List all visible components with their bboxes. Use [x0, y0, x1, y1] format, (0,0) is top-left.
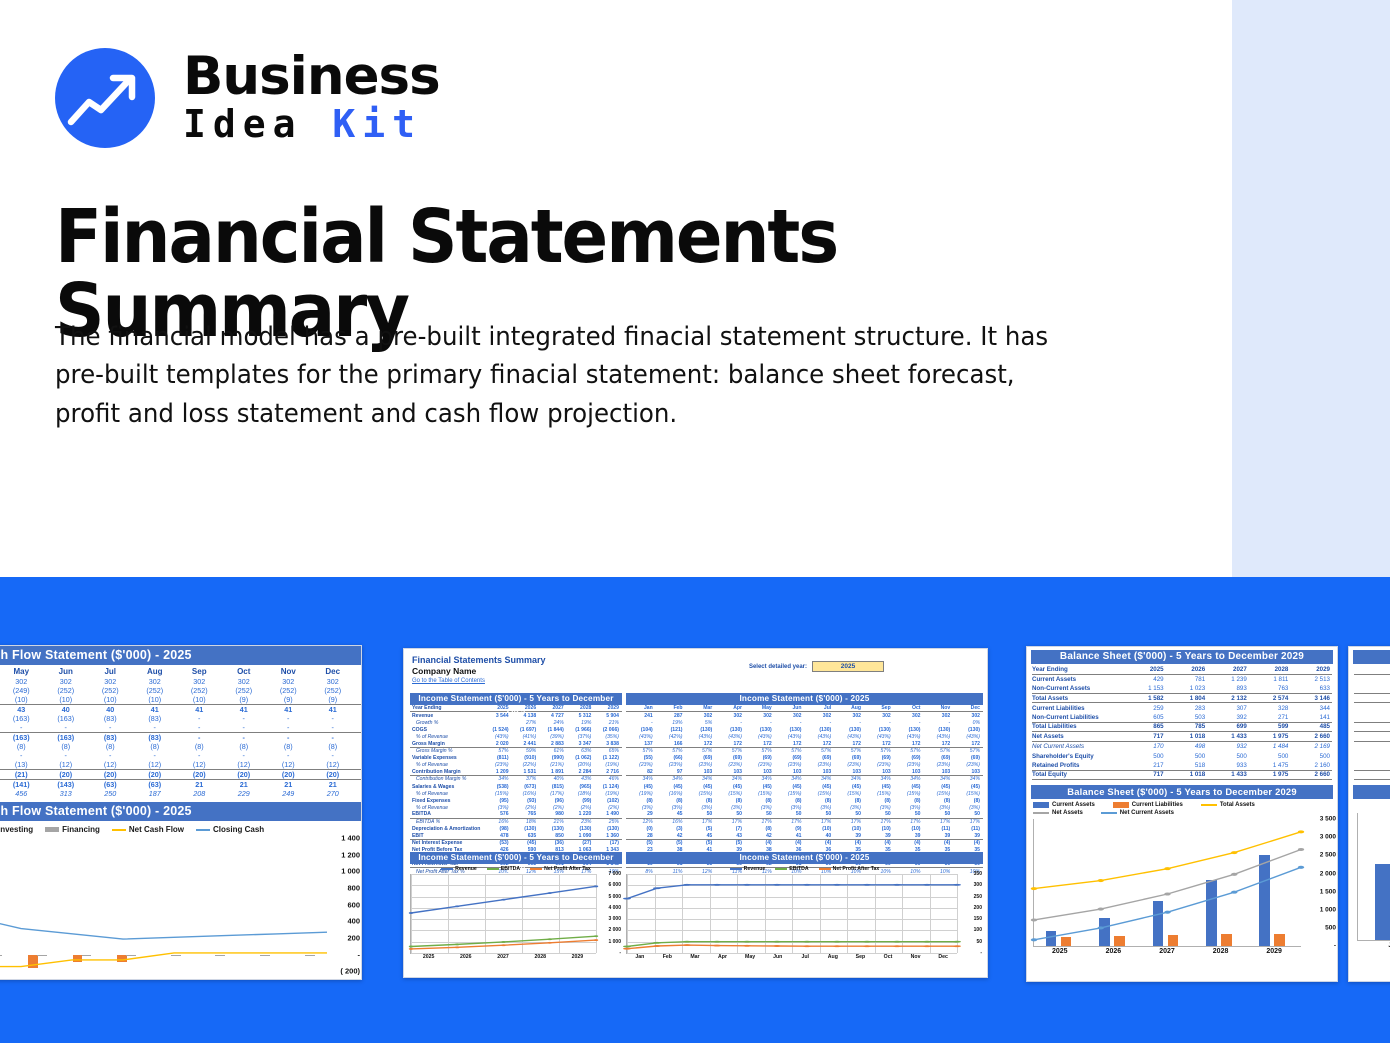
cell: - — [177, 751, 222, 760]
cell: (252) — [177, 686, 222, 695]
cell: (252) — [222, 686, 267, 695]
cell: 172 — [924, 741, 954, 747]
income-statement-monthly-block: Income Statement ($'000) - 2025 JanFebMa… — [626, 693, 983, 875]
cell: 37% — [512, 776, 540, 782]
cell: - — [177, 714, 222, 723]
cell: - — [44, 723, 89, 732]
cell: 57% — [484, 748, 512, 754]
y-tick-label: 6 000 — [608, 882, 621, 888]
x-tick-label: Jan — [1349, 941, 1390, 949]
cell: (12) — [222, 760, 267, 769]
month-header: Nov — [266, 667, 311, 676]
cell: 17% — [805, 819, 835, 825]
legend-item: Financing — [45, 825, 100, 834]
row-label: % of Revenue — [410, 791, 484, 797]
cell: 302 — [133, 677, 178, 686]
y-tick-label: - — [980, 950, 982, 956]
cell: (1 122) — [594, 755, 622, 761]
cell: 57% — [805, 748, 835, 754]
cell: 313 — [44, 789, 89, 798]
year-picker-label: Select detailed year: — [749, 664, 807, 670]
far-plot — [1357, 813, 1390, 941]
legend-item: Investing — [0, 825, 33, 834]
table-row: 34%34%34%34%34%34%34%34%34%34%34%34% — [626, 776, 983, 783]
income-statement-5y-block: Income Statement ($'000) - 5 Years to De… — [410, 693, 622, 875]
legend-label: Current Liabilities — [1132, 802, 1183, 808]
cell: 2 169 — [1290, 743, 1332, 750]
cell: (3%) — [924, 805, 954, 811]
cell: (45) — [953, 784, 983, 790]
cell: (8) — [311, 742, 356, 751]
cell: - — [715, 720, 745, 726]
cell: (130) — [567, 826, 595, 832]
month-header: Jun — [44, 667, 89, 676]
year-picker-input[interactable]: 2025 — [812, 661, 884, 672]
cell: (15%) — [834, 791, 864, 797]
cell: (20) — [88, 770, 133, 779]
row-label: % of Revenue — [410, 762, 484, 768]
cell: 34% — [715, 776, 745, 782]
cell: 259 — [1124, 705, 1166, 712]
cell: 392 — [1207, 714, 1249, 721]
cell: (43%) — [805, 734, 835, 740]
cell: 1 433 — [1207, 733, 1249, 740]
table-row: Fixed Expenses(95)(93)(96)(99)(102) — [410, 797, 622, 804]
cell: (12) — [266, 760, 311, 769]
row-label: % of Revenue — [410, 805, 484, 811]
x-tick-label: Sep — [847, 954, 875, 960]
cell: 456 — [0, 789, 44, 798]
cell: 328 — [1249, 705, 1291, 712]
cell: (45) — [656, 784, 686, 790]
legend-label: Revenue — [744, 866, 766, 872]
y-tick-label: 2 000 — [608, 927, 621, 933]
cell: 302 — [924, 713, 954, 719]
cell: 50 — [924, 811, 954, 817]
cell: (252) — [311, 686, 356, 695]
ismo-x-axis: JanFebMarAprMayJunJulAugSepOctNovDec — [626, 954, 983, 960]
cell: (10) — [177, 695, 222, 704]
x-tick-label: 2028 — [1194, 948, 1248, 955]
legend-item: Revenue — [730, 866, 766, 872]
legend-line-swatch — [1101, 812, 1117, 814]
cell: (102) — [594, 798, 622, 804]
cell: 172 — [686, 741, 716, 747]
table-row: % of Revenue(23%)(22%)(21%)(20%)(19%) — [410, 762, 622, 769]
cell: (130) — [864, 727, 894, 733]
row-label: EBIT — [410, 833, 484, 839]
legend-bar-swatch — [1033, 802, 1049, 808]
cell: (10) — [44, 695, 89, 704]
cell: 34% — [894, 776, 924, 782]
cell: 17% — [924, 819, 954, 825]
cell: 21 — [177, 780, 222, 789]
cell: (8) — [266, 742, 311, 751]
cell: 605 — [1124, 714, 1166, 721]
ismo-chart-legend: RevenueEBITDANet Profit After Tax — [626, 864, 983, 874]
cell: 39 — [834, 833, 864, 839]
balance-sheet-screenshot[interactable]: Balance Sheet ($'000) - 5 Years to Decem… — [1026, 646, 1338, 982]
table-row: 284245434241403939393939 — [626, 833, 983, 840]
cell: 17% — [834, 819, 864, 825]
cell: (5) — [656, 840, 686, 846]
cell: - — [133, 751, 178, 760]
cell: 500 — [1124, 753, 1166, 760]
table-row: Variable Expenses(811)(910)(990)(1 062)(… — [410, 755, 622, 762]
cell: (53) — [484, 840, 512, 846]
row-label: Total Assets — [1032, 695, 1124, 702]
cell: 57% — [924, 748, 954, 754]
cell: (27) — [567, 840, 595, 846]
cell: (83) — [88, 714, 133, 723]
cell: 765 — [512, 811, 540, 817]
cell: (965) — [567, 784, 595, 790]
cell: 103 — [686, 769, 716, 775]
is5-rows: Year Ending20252026202720282029Revenue3 … — [410, 705, 622, 875]
row-label: Current Liabilities — [1032, 705, 1124, 712]
cell: (10) — [88, 695, 133, 704]
income-statement-screenshot[interactable]: Financial Statements Summary Company Nam… — [403, 648, 988, 978]
y-tick-label: 1 400 — [341, 834, 360, 843]
row-label: Current Assets — [1032, 676, 1124, 683]
month-header: Aug — [133, 667, 178, 676]
cell: (8) — [715, 798, 745, 804]
cell: (19%) — [626, 791, 656, 797]
cell: (8) — [686, 798, 716, 804]
row-label: Retained Profits — [1032, 762, 1124, 769]
cell: 27% — [512, 720, 540, 726]
month-header: Sep — [177, 667, 222, 676]
cell: (910) — [512, 755, 540, 761]
cell: (15%) — [805, 791, 835, 797]
cell: 57% — [656, 748, 686, 754]
cell: 893 — [1207, 685, 1249, 692]
cell: 302 — [953, 713, 983, 719]
cell: 41 — [775, 833, 805, 839]
cell: 1 360 — [594, 833, 622, 839]
cell: (99) — [567, 798, 595, 804]
cell: 40% — [539, 776, 567, 782]
cell: (130) — [805, 727, 835, 733]
cell: (23%) — [953, 762, 983, 768]
cell: (19%) — [594, 791, 622, 797]
legend-line-swatch — [775, 868, 787, 870]
cell: (12) — [133, 760, 178, 769]
cell: (104) — [626, 727, 656, 733]
cell: (20) — [311, 770, 356, 779]
legend-bar-swatch — [1113, 802, 1129, 808]
cell: - — [88, 751, 133, 760]
cell: 34% — [805, 776, 835, 782]
cell: (811) — [484, 755, 512, 761]
table-row: -19%5%--------0% — [626, 719, 983, 726]
cell: Apr — [715, 705, 745, 711]
page-description: The financial model has a pre-built inte… — [55, 318, 1053, 433]
cell: 865 — [1124, 723, 1166, 730]
cell: 270 — [311, 789, 356, 798]
cell: 41 — [133, 705, 178, 714]
cell: - — [864, 720, 894, 726]
legend-item: Revenue — [441, 866, 477, 872]
cell: (11) — [924, 826, 954, 832]
hero-section: Business Idea Kit Financial Statements S… — [0, 0, 1390, 577]
is5-title: Income Statement ($'000) - 5 Years to De… — [410, 693, 622, 705]
cell: 41 — [311, 705, 356, 714]
cell: - — [177, 733, 222, 742]
far-table: Jan1 1741241 297936927865121 08150012512 — [1349, 664, 1390, 780]
cell: 57% — [715, 748, 745, 754]
ismo-title: Income Statement ($'000) - 2025 — [626, 693, 983, 705]
table-of-contents-link[interactable]: Go to the Table of Contents — [412, 678, 987, 684]
cell: 1 018 — [1166, 771, 1208, 778]
y-tick-label: 1 200 — [341, 850, 360, 859]
cell: 172 — [745, 741, 775, 747]
cell: 2 883 — [539, 741, 567, 747]
y-tick-label: 3 000 — [1320, 834, 1336, 841]
cell: 302 — [0, 677, 44, 686]
cell: (45) — [686, 784, 716, 790]
row-label: Year Ending — [1032, 666, 1124, 673]
cell: 302 — [311, 677, 356, 686]
y-tick-label: 7 000 — [608, 871, 621, 877]
cell: (43%) — [894, 734, 924, 740]
cell: - — [177, 723, 222, 732]
table-row: 12%16%17%17%17%17%17%17%17%17%17%17% — [626, 819, 983, 826]
legend-row: Net AssetsNet Current Assets — [1033, 810, 1331, 816]
cell: 1 582 — [1124, 695, 1166, 702]
cell: 1 153 — [1124, 685, 1166, 692]
cell: 141 — [1290, 714, 1332, 721]
cell: (69) — [834, 755, 864, 761]
cell: (69) — [775, 755, 805, 761]
cell: 2 020 — [484, 741, 512, 747]
y-tick-label: 1 000 — [608, 939, 621, 945]
y-tick-label: 350 — [974, 871, 982, 877]
legend-label: Financing — [62, 825, 100, 834]
growth-arrow-icon — [55, 48, 155, 148]
cell: 57% — [953, 748, 983, 754]
table-row: Gross Margin2 0202 4412 8833 3473 838 — [410, 740, 622, 747]
cell: 103 — [953, 769, 983, 775]
cell: (43%) — [864, 734, 894, 740]
cell: (69) — [924, 755, 954, 761]
cell: (63) — [133, 780, 178, 789]
cell: (10) — [834, 826, 864, 832]
far-chart-title-bar — [1353, 785, 1390, 799]
cell: 503 — [1166, 714, 1208, 721]
cell: 302 — [894, 713, 924, 719]
cell: (5) — [715, 840, 745, 846]
table-row: Depreciation & Amortization(98)(130)(130… — [410, 826, 622, 833]
cell: 103 — [924, 769, 954, 775]
cell: (10) — [133, 695, 178, 704]
cell: (15%) — [686, 791, 716, 797]
cell: 1 804 — [1166, 695, 1208, 702]
cell: Jun — [775, 705, 805, 711]
cell: (1 697) — [512, 727, 540, 733]
cell: 59% — [512, 748, 540, 754]
cell: 2 513 — [1290, 676, 1332, 683]
table-row: (21)(20)(20)(20)(20)(20)(20)(20) — [0, 769, 361, 779]
cell: 498 — [1166, 743, 1208, 750]
cell: (12) — [177, 760, 222, 769]
cell: 34% — [775, 776, 805, 782]
cell: (130) — [539, 826, 567, 832]
cell: (43%) — [953, 734, 983, 740]
y-tick-label: 50 — [976, 939, 982, 945]
cell: 307 — [1207, 705, 1249, 712]
cell: 302 — [44, 677, 89, 686]
cell: (3%) — [686, 805, 716, 811]
cell: (8) — [44, 742, 89, 751]
legend-line-swatch — [112, 829, 126, 831]
cell: (252) — [44, 686, 89, 695]
table-row: 93 — [1354, 703, 1390, 713]
x-tick-label: Apr — [709, 954, 737, 960]
cell: 1 975 — [1249, 771, 1291, 778]
cell: 40 — [88, 705, 133, 714]
cell: 2 716 — [594, 769, 622, 775]
cell: (20) — [266, 770, 311, 779]
cell: 34% — [953, 776, 983, 782]
cell: (143) — [44, 780, 89, 789]
cell: 166 — [656, 741, 686, 747]
cell: 50 — [715, 811, 745, 817]
cell: (43%) — [484, 734, 512, 740]
cell: (39%) — [539, 734, 567, 740]
cell: (0) — [626, 826, 656, 832]
x-tick-label: 2029 — [559, 954, 596, 960]
ismo-plot: 35030025020015010050- — [626, 874, 957, 954]
cell: 500 — [1249, 753, 1291, 760]
cell: 633 — [1290, 685, 1332, 692]
table-row: Year Ending20252026202720282029 — [1032, 665, 1332, 675]
cell: 302 — [745, 713, 775, 719]
cash-flow-screenshot[interactable]: Cash Flow Statement ($'000) - 2025 MayJu… — [0, 645, 362, 980]
cell: 40 — [805, 833, 835, 839]
row-label: Shareholder's Equity — [1032, 753, 1124, 760]
y-tick-label: 800 — [347, 884, 360, 893]
legend-item: Total Assets — [1201, 802, 1255, 808]
cash-flow-chart-legend: InvestingFinancingNet Cash FlowClosing C… — [0, 821, 361, 836]
cell: 172 — [834, 741, 864, 747]
cell: 5 904 — [594, 713, 622, 719]
legend-item: Net Current Assets — [1101, 810, 1174, 816]
cell: (69) — [864, 755, 894, 761]
cell: 25% — [594, 819, 622, 825]
series-closing-cash — [0, 838, 327, 980]
cell: (37%) — [567, 734, 595, 740]
x-tick-label: Mar — [681, 954, 709, 960]
table-row: Total Equity7171 0181 4331 9752 660 — [1032, 771, 1332, 781]
cell: 302 — [834, 713, 864, 719]
cell: 302 — [864, 713, 894, 719]
cell: (8) — [133, 742, 178, 751]
cell: (43%) — [626, 734, 656, 740]
cell: 18% — [512, 819, 540, 825]
cell: 41 — [177, 705, 222, 714]
cell: (55) — [626, 755, 656, 761]
row-label: Salaries & Wages — [410, 784, 484, 790]
table-row: 786 — [1354, 723, 1390, 733]
y-tick-label: 1 500 — [1320, 888, 1336, 895]
cell: 2 132 — [1207, 695, 1249, 702]
cell: (23%) — [864, 762, 894, 768]
cell: (98) — [484, 826, 512, 832]
far-table-title-bar — [1353, 650, 1390, 664]
cell: 17% — [953, 819, 983, 825]
cell: (83) — [133, 733, 178, 742]
legend-label: EBITDA — [501, 866, 520, 872]
cell: - — [894, 720, 924, 726]
legend-label: Net Profit After Tax — [833, 866, 880, 872]
cell: 21% — [539, 819, 567, 825]
cell: (815) — [539, 784, 567, 790]
cell: 50 — [953, 811, 983, 817]
legend-line-swatch — [530, 868, 542, 870]
brand-logo: Business Idea Kit — [55, 48, 440, 148]
cell: 172 — [805, 741, 835, 747]
cell: - — [222, 723, 267, 732]
cell: (16%) — [656, 791, 686, 797]
cell: - — [311, 733, 356, 742]
table-row: (23%)(23%)(23%)(23%)(23%)(23%)(23%)(23%)… — [626, 762, 983, 769]
cell: (8) — [894, 798, 924, 804]
cell: (3%) — [484, 805, 512, 811]
table-row: -------- — [0, 723, 361, 732]
table-row: 12 — [1354, 761, 1390, 771]
cell: (130) — [894, 727, 924, 733]
cell: 21% — [594, 720, 622, 726]
cell: Dec — [953, 705, 983, 711]
year-picker[interactable]: Select detailed year: 2025 — [749, 661, 884, 672]
cell: (4) — [924, 840, 954, 846]
table-row: (43%)(42%)(43%)(43%)(43%)(43%)(43%)(43%)… — [626, 733, 983, 740]
cell: (95) — [484, 798, 512, 804]
cell: (15%) — [775, 791, 805, 797]
table-row: EBITDA5767659801 2201 490 — [410, 811, 622, 818]
cell: - — [266, 751, 311, 760]
cell: (3%) — [745, 805, 775, 811]
cell: (3%) — [656, 805, 686, 811]
cell: - — [266, 733, 311, 742]
cell: 485 — [1290, 723, 1332, 730]
legend-item: Net Assets — [1033, 810, 1083, 816]
cell: (15%) — [953, 791, 983, 797]
row-label: Non-Current Assets — [1032, 685, 1124, 692]
cell: 187 — [133, 789, 178, 798]
table-row: 1 081 — [1354, 742, 1390, 752]
table-row: Shareholder's Equity500500500500500 — [1032, 751, 1332, 761]
y-tick-label: 400 — [347, 917, 360, 926]
cell: - — [133, 723, 178, 732]
table-row: 294550505050505050505050 — [626, 811, 983, 818]
legend-line-swatch — [1033, 812, 1049, 814]
y-tick-label: 3 500 — [1320, 816, 1336, 823]
row-label: Contribution Margin — [410, 769, 484, 775]
table-row: Revenue3 5444 1384 7275 3125 904 — [410, 712, 622, 719]
cell: 57% — [894, 748, 924, 754]
table-row: 512 — [1354, 732, 1390, 742]
cell: 82 — [626, 769, 656, 775]
balance-sheet-plot: 3 5003 0002 5002 0001 5001 000500- — [1033, 819, 1301, 947]
table-row: 241287302302302302302302302302302302 — [626, 712, 983, 719]
legend-line-swatch — [196, 829, 210, 831]
cell: (1 062) — [567, 755, 595, 761]
table-row: 1 297 — [1354, 694, 1390, 704]
balance-sheet-monthly-screenshot[interactable]: Jan1 1741241 297936927865121 08150012512… — [1348, 646, 1390, 982]
series-net-profit-after-tax — [411, 874, 596, 953]
